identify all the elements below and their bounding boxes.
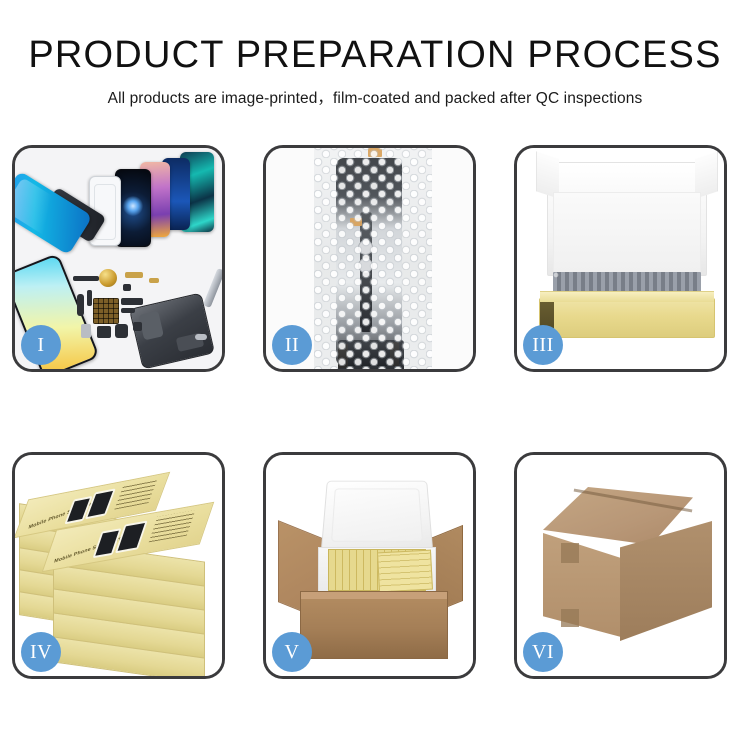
packed-boxes-row-2 bbox=[377, 550, 433, 593]
step-badge-4: IV bbox=[21, 632, 61, 672]
step-badge-2: II bbox=[272, 325, 312, 365]
step-panel-2: II LCD screen assembly sealed in bubble … bbox=[263, 145, 476, 372]
part-bracket bbox=[97, 326, 111, 338]
chip-grid-part bbox=[93, 298, 119, 324]
step-badge-3: III bbox=[523, 325, 563, 365]
part-gold-contact bbox=[149, 278, 159, 283]
foam-case-lid bbox=[321, 481, 433, 552]
part-flex-cable-a bbox=[77, 294, 84, 316]
carton-tape-upper bbox=[561, 543, 579, 563]
part-screw-plate bbox=[133, 322, 142, 331]
box-print-screen-2 bbox=[85, 488, 116, 519]
box-print-screen-4 bbox=[115, 521, 148, 554]
steps-grid: I Mobile phone screens, tempered glass a… bbox=[12, 145, 738, 679]
screwdriver-tool bbox=[203, 268, 222, 308]
carton-left-face bbox=[543, 533, 621, 637]
step-panel-1: I Mobile phone screens, tempered glass a… bbox=[12, 145, 225, 372]
product-preparation-infographic: PRODUCT PREPARATION PROCESS All products… bbox=[0, 0, 750, 750]
foam-sheet bbox=[553, 192, 701, 274]
part-small-clip bbox=[123, 284, 131, 291]
part-earpiece bbox=[115, 324, 128, 338]
vibration-motor-part bbox=[99, 269, 117, 287]
bubble-wrap-bag bbox=[314, 148, 432, 369]
step-badge-1: I bbox=[21, 325, 61, 365]
part-camera-module bbox=[81, 324, 91, 338]
outer-carton-open bbox=[300, 591, 448, 659]
step-badge-5: V bbox=[272, 632, 312, 672]
box-print-text-lines-front bbox=[149, 510, 196, 542]
bubble-texture-overlay bbox=[314, 148, 432, 369]
step-panel-6: VI Sealed outer shipping carton bbox=[514, 452, 727, 679]
box-print-text-lines-rear bbox=[114, 479, 157, 509]
page-title: PRODUCT PREPARATION PROCESS bbox=[0, 36, 750, 74]
part-flex-cable-b bbox=[87, 290, 92, 306]
phone-blue-tilted bbox=[15, 171, 93, 256]
part-connector bbox=[121, 308, 135, 313]
part-screws bbox=[195, 334, 207, 340]
kraft-box-base bbox=[539, 298, 715, 338]
step-badge-6: VI bbox=[523, 632, 563, 672]
part-gold-bracket bbox=[125, 272, 143, 278]
part-speaker-mesh bbox=[73, 276, 99, 281]
page-subtitle: All products are image-printed，film-coat… bbox=[0, 86, 750, 108]
step-panel-5: V Boxes loaded into foam case inside ope… bbox=[263, 452, 476, 679]
step-panel-3: III Screens packed into foam-lined yello… bbox=[514, 145, 727, 372]
carton-tape-lower bbox=[561, 609, 579, 627]
step-panel-4: Mobile Phone Spare Parts Mobile Phone Sp… bbox=[12, 452, 225, 679]
part-flex-strip bbox=[121, 298, 143, 305]
header: PRODUCT PREPARATION PROCESS All products… bbox=[0, 0, 750, 108]
